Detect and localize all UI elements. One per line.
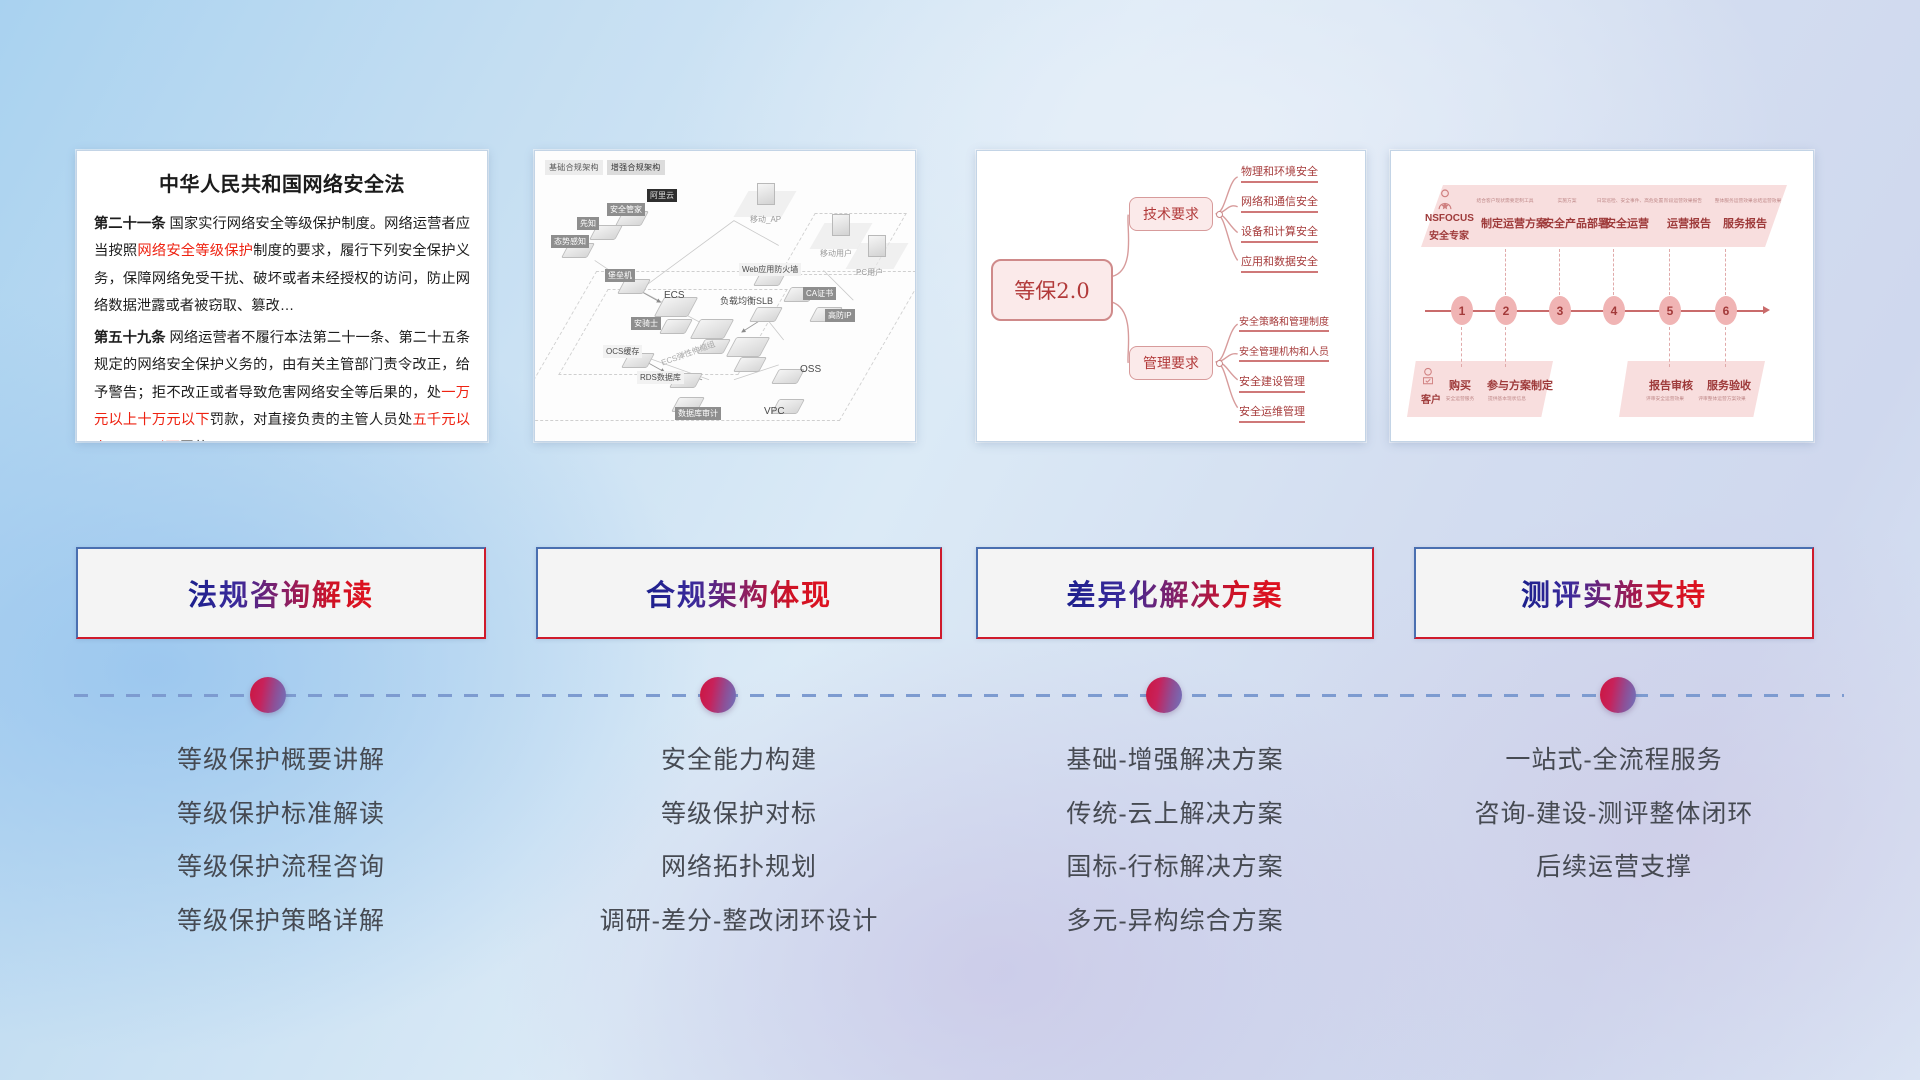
arch-label-anqishi: 安骑士 xyxy=(631,317,661,330)
nsfocus-top-sub-2: 实施方案 xyxy=(1558,197,1577,204)
mindmap-leaf-physical-env[interactable]: 物理和环境安全 xyxy=(1241,163,1318,183)
law-article-2-label: 第五十九条 xyxy=(94,330,166,346)
timeline-node-6[interactable]: 6 xyxy=(1715,296,1737,325)
list-column-4: 一站式-全流程服务 咨询-建设-测评整体闭环 后续运营支撑 xyxy=(1414,740,1814,889)
timeline-lead-5 xyxy=(1669,249,1670,295)
arch-label-aliyun: 阿里云 xyxy=(647,189,677,202)
timeline-lead-2-down xyxy=(1505,327,1506,367)
mindmap-collapse-dot-management[interactable] xyxy=(1216,360,1223,367)
law-article-1-label: 第二十一条 xyxy=(94,216,166,232)
nsfocus-top-title-3: 安全运营 xyxy=(1605,215,1649,231)
list-item[interactable]: 等级保护对标 xyxy=(661,794,817,836)
list-item[interactable]: 等级保护概要讲解 xyxy=(177,740,385,782)
timeline-lead-5-down xyxy=(1669,327,1670,367)
nsfocus-top-sub-3: 日常巡检、安全事件、高危处置 xyxy=(1597,197,1664,204)
section-title-box-3[interactable]: 差异化解决方案 xyxy=(976,547,1374,639)
card-compliance-architecture[interactable]: 基础合规架构 增强合规架构 xyxy=(534,150,916,442)
timeline-lead-3 xyxy=(1559,249,1560,295)
timeline-lead-2 xyxy=(1505,249,1506,295)
card-cybersecurity-law[interactable]: 中华人民共和国网络安全法 第二十一条 国家实行网络安全等级保护制度。网络运营者应… xyxy=(76,150,488,442)
arch-label-bastion: 堡垒机 xyxy=(605,269,635,282)
mindmap-leaf-network-comm[interactable]: 网络和通信安全 xyxy=(1241,193,1318,213)
timeline-node-3[interactable]: 3 xyxy=(1549,296,1571,325)
law-article-2: 第五十九条 网络运营者不履行本法第二十一条、第二十五条规定的网络安全保护义务的，… xyxy=(94,325,470,442)
timeline-node-1[interactable]: 1 xyxy=(1451,296,1473,325)
law-article-1: 第二十一条 国家实行网络安全等级保护制度。网络运营者应当按照网络安全等级保护制度… xyxy=(94,211,470,321)
arch-label-ecs: ECS xyxy=(661,289,688,302)
nsfocus-step-title-purchase: 购买 xyxy=(1449,377,1471,393)
nsfocus-top-sub-5: 整体服务运营效果总结运营效果 xyxy=(1715,197,1782,204)
architecture-diagram: 基础合规架构 增强合规架构 xyxy=(535,151,915,441)
arch-label-ca: CA证书 xyxy=(803,287,836,300)
list-item[interactable]: 等级保护流程咨询 xyxy=(177,847,385,889)
list-column-2: 安全能力构建 等级保护对标 网络拓扑规划 调研-差分-整改闭环设计 xyxy=(536,740,942,942)
nsfocus-top-sub-4: 阶段运营效果报告 xyxy=(1664,197,1702,204)
timeline-lead-1-down xyxy=(1461,327,1462,367)
arch-label-mobile-user: 移动用户 xyxy=(817,247,855,260)
law-article-2-seg-4: 罚款。 xyxy=(180,440,223,443)
timeline-marker-4[interactable] xyxy=(1600,677,1636,713)
nsfocus-top-sub-1: 结合客户现状需要定制工具 xyxy=(1477,197,1534,204)
cards-row: 中华人民共和国网络安全法 第二十一条 国家实行网络安全等级保护制度。网络运营者应… xyxy=(0,150,1920,450)
arch-label-xianzhi: 先知 xyxy=(577,217,599,230)
section-title-box-2[interactable]: 合规架构体现 xyxy=(536,547,942,639)
timeline-arrow-icon xyxy=(1763,306,1770,314)
arch-label-waf: Web应用防火墙 xyxy=(739,263,801,276)
timeline-lead-4 xyxy=(1613,249,1614,295)
section-title-1: 法规咨询解读 xyxy=(188,572,374,614)
arch-label-vpc: VPC xyxy=(761,405,788,418)
list-item[interactable]: 安全能力构建 xyxy=(661,740,817,782)
arch-label-anti-ddos: 高防IP xyxy=(825,309,855,322)
law-article-1-seg-1: 网络安全等级保护 xyxy=(137,243,253,259)
nsfocus-step-title-report-review: 报告审核 xyxy=(1649,377,1693,393)
section-title-4: 测评实施支持 xyxy=(1521,572,1707,614)
mindmap-collapse-dot-technical[interactable] xyxy=(1216,211,1223,218)
arch-icon-mobile-ap xyxy=(757,183,775,205)
mindmap-root[interactable]: 等保2.0 xyxy=(991,259,1113,321)
section-title-3: 差异化解决方案 xyxy=(1066,572,1283,614)
poster-root: 中华人民共和国网络安全法 第二十一条 国家实行网络安全等级保护制度。网络运营者应… xyxy=(0,0,1920,1080)
arch-label-rds: RDS数据库 xyxy=(637,371,684,384)
nsfocus-customer-label: 客户 xyxy=(1421,391,1441,406)
mindmap-leaf-construction-mgmt[interactable]: 安全建设管理 xyxy=(1239,373,1305,393)
nsfocus-step-sub-report-review: 评审安全运营效果 xyxy=(1646,395,1684,402)
mindmap-leaf-policy-system[interactable]: 安全策略和管理制度 xyxy=(1239,313,1329,332)
arch-icon-mobile-user xyxy=(832,214,850,236)
nsfocus-timeline: NSFOCUS 安全专家 结合客户现状需要定制工具 制定运营方案 实施方案 安全… xyxy=(1391,151,1813,441)
section-title-2: 合规架构体现 xyxy=(646,572,832,614)
nsfocus-step-title-participate: 参与方案制定 xyxy=(1487,377,1553,393)
list-item[interactable]: 多元-异构综合方案 xyxy=(1066,901,1283,943)
section-titles-row: 法规咨询解读 合规架构体现 差异化解决方案 测评实施支持 xyxy=(0,547,1920,643)
mindmap: 等保2.0 技术要求 管理要求 物理和环境安全 网络和通信安全 设备和计算安全 … xyxy=(977,151,1365,441)
nsfocus-top-title-4: 运营报告 xyxy=(1667,215,1711,231)
arch-label-situational-awareness: 态势感知 xyxy=(551,235,589,248)
nsfocus-step-sub-participate: 提供基本现状信息 xyxy=(1488,395,1526,402)
arch-label-oss: OSS xyxy=(797,363,824,376)
nsfocus-top-title-2: 安全产品部署 xyxy=(1543,215,1609,231)
arch-icon-pc-user xyxy=(868,235,886,257)
timeline-node-5[interactable]: 5 xyxy=(1659,296,1681,325)
mindmap-leaf-device-compute[interactable]: 设备和计算安全 xyxy=(1241,223,1318,243)
law-article-2-seg-2: 罚款，对直接负责的主管人员处 xyxy=(210,412,413,428)
timeline-marker-2[interactable] xyxy=(700,677,736,713)
nsfocus-step-sub-purchase: 安全运营服务 xyxy=(1446,395,1475,402)
list-item[interactable]: 调研-差分-整改闭环设计 xyxy=(600,901,879,943)
arch-label-security-housekeeper: 安全管家 xyxy=(607,203,645,216)
arch-label-slb: 负载均衡SLB xyxy=(717,293,776,308)
arch-label-db-audit: 数据库审计 xyxy=(675,407,721,420)
timeline-marker-1[interactable] xyxy=(250,677,286,713)
list-column-1: 等级保护概要讲解 等级保护标准解读 等级保护流程咨询 等级保护策略详解 xyxy=(76,740,486,942)
nsfocus-step-title-acceptance: 服务验收 xyxy=(1707,377,1751,393)
list-item[interactable]: 国标-行标解决方案 xyxy=(1066,847,1283,889)
section-title-box-1[interactable]: 法规咨询解读 xyxy=(76,547,486,639)
list-column-3: 基础-增强解决方案 传统-云上解决方案 国标-行标解决方案 多元-异构综合方案 xyxy=(976,740,1374,942)
list-item[interactable]: 咨询-建设-测评整体闭环 xyxy=(1475,794,1754,836)
lists-row: 等级保护概要讲解 等级保护标准解读 等级保护流程咨询 等级保护策略详解 安全能力… xyxy=(0,740,1920,970)
list-item[interactable]: 传统-云上解决方案 xyxy=(1066,794,1283,836)
list-item[interactable]: 等级保护标准解读 xyxy=(177,794,385,836)
list-item[interactable]: 后续运营支撑 xyxy=(1536,847,1692,889)
list-item[interactable]: 一站式-全流程服务 xyxy=(1505,740,1722,782)
timeline-node-2[interactable]: 2 xyxy=(1495,296,1517,325)
section-title-box-4[interactable]: 测评实施支持 xyxy=(1414,547,1814,639)
nsfocus-step-sub-acceptance: 评审整体运营方案效果 xyxy=(1698,395,1746,402)
mindmap-leaf-ops-mgmt[interactable]: 安全运维管理 xyxy=(1239,403,1305,423)
timeline-node-4[interactable]: 4 xyxy=(1603,296,1625,325)
nsfocus-top-title-5: 服务报告 xyxy=(1723,215,1767,231)
nsfocus-top-title-1: 制定运营方案 xyxy=(1481,215,1547,231)
mindmap-branch-technical[interactable]: 技术要求 xyxy=(1129,197,1213,231)
card-mindmap-dengbao[interactable]: 等保2.0 技术要求 管理要求 物理和环境安全 网络和通信安全 设备和计算安全 … xyxy=(976,150,1366,442)
arch-label-ocs: OCS缓存 xyxy=(603,345,642,358)
arch-label-pc-user: PC用户 xyxy=(853,266,886,279)
mindmap-branch-management[interactable]: 管理要求 xyxy=(1129,346,1213,380)
timeline-dashed-line xyxy=(74,694,1844,697)
customer-person-icon xyxy=(1419,367,1437,387)
timeline-lead-6 xyxy=(1725,249,1726,295)
timeline-axis xyxy=(1425,310,1765,312)
timeline-marker-3[interactable] xyxy=(1146,677,1182,713)
list-item[interactable]: 基础-增强解决方案 xyxy=(1066,740,1283,782)
arch-label-mobile-ap: 移动_AP xyxy=(747,213,784,226)
nsfocus-expert-line1: NSFOCUS xyxy=(1425,213,1474,224)
list-item[interactable]: 网络拓扑规划 xyxy=(661,847,817,889)
timeline-lead-6-down xyxy=(1725,327,1726,367)
law-body: 第二十一条 国家实行网络安全等级保护制度。网络运营者应当按照网络安全等级保护制度… xyxy=(94,211,470,442)
mindmap-leaf-app-data[interactable]: 应用和数据安全 xyxy=(1241,253,1318,273)
card-nsfocus-service-timeline[interactable]: NSFOCUS 安全专家 结合客户现状需要定制工具 制定运营方案 实施方案 安全… xyxy=(1390,150,1814,442)
expert-person-icon xyxy=(1435,189,1455,211)
law-title: 中华人民共和国网络安全法 xyxy=(77,168,487,197)
list-item[interactable]: 等级保护策略详解 xyxy=(177,901,385,943)
mindmap-leaf-org-personnel[interactable]: 安全管理机构和人员 xyxy=(1239,343,1329,362)
nsfocus-expert-line2: 安全专家 xyxy=(1429,227,1469,242)
